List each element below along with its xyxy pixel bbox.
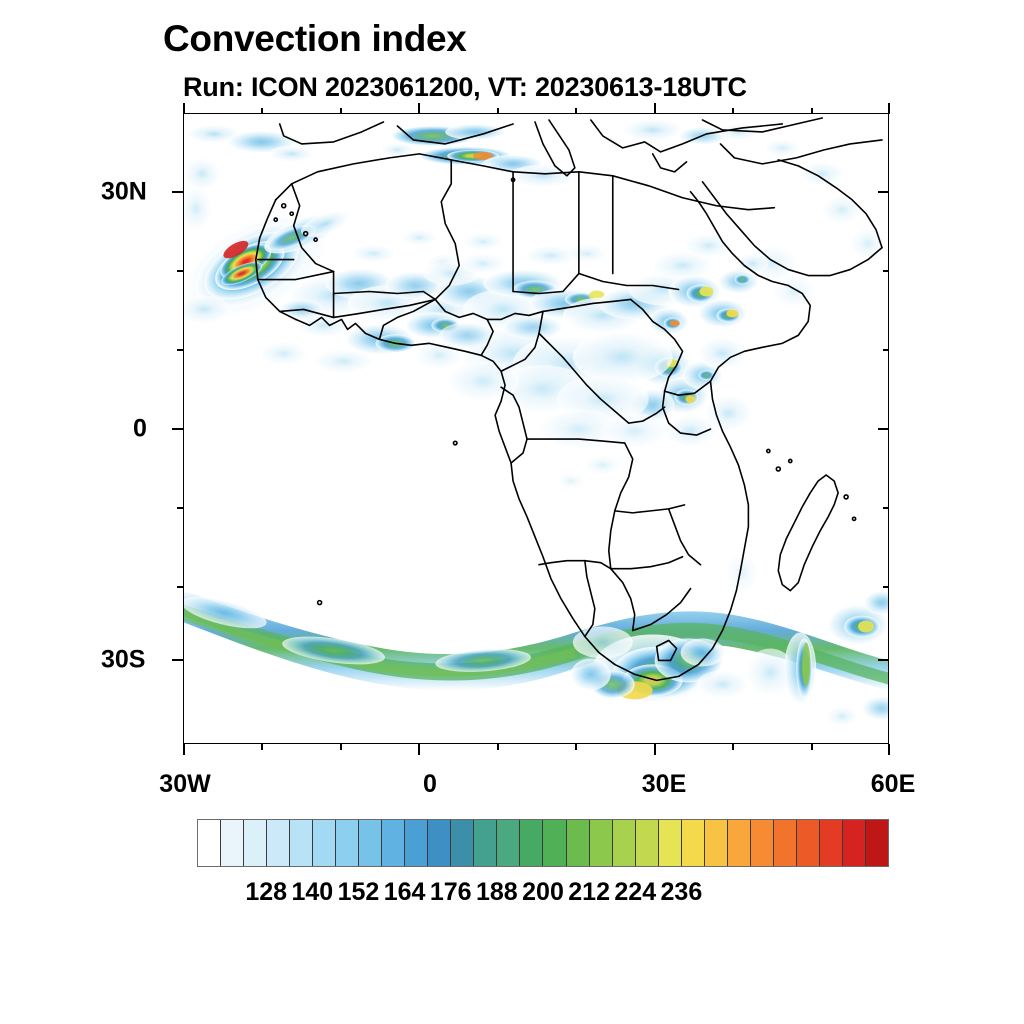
colorbar-tick-label-140: 140 bbox=[291, 878, 333, 907]
colorbar-band-7 bbox=[359, 820, 382, 866]
y-tick-right-30s bbox=[878, 659, 889, 661]
colorbar-tick-label-224: 224 bbox=[614, 878, 656, 907]
colorbar-band-9 bbox=[405, 820, 428, 866]
colorbar-band-26 bbox=[797, 820, 820, 866]
y-tick-10s bbox=[177, 507, 183, 509]
colorbar-band-25 bbox=[774, 820, 797, 866]
x-tick-0 bbox=[418, 744, 420, 755]
y-tick-right-10n bbox=[883, 349, 889, 351]
coastline-and-borders-overlay bbox=[184, 114, 888, 743]
colorbar-band-1 bbox=[221, 820, 244, 866]
colorbar-tick-label-176: 176 bbox=[430, 878, 472, 907]
page-title: Convection index bbox=[163, 18, 467, 60]
x-tick-20e bbox=[575, 744, 577, 750]
colorbar-tick-label-236: 236 bbox=[661, 878, 703, 907]
colorbar-tick-label-200: 200 bbox=[522, 878, 564, 907]
colorbar-band-0 bbox=[198, 820, 221, 866]
colorbar-band-28 bbox=[843, 820, 866, 866]
y-axis-label-30n: 30N bbox=[101, 178, 147, 207]
x-tick-30e bbox=[654, 744, 656, 755]
colorbar-band-10 bbox=[428, 820, 451, 866]
y-tick-right-0 bbox=[878, 428, 889, 430]
x-tick-60e bbox=[888, 744, 890, 755]
colorbar-band-18 bbox=[613, 820, 636, 866]
y-axis-label-30s: 30S bbox=[101, 646, 145, 675]
colorbar-band-11 bbox=[451, 820, 474, 866]
colorbar-tick-label-152: 152 bbox=[338, 878, 380, 907]
x-tick-top-20w bbox=[261, 108, 263, 114]
colorbar bbox=[197, 819, 889, 867]
y-tick-right-20s bbox=[883, 586, 889, 588]
colorbar-band-12 bbox=[474, 820, 497, 866]
colorbar-band-14 bbox=[520, 820, 543, 866]
y-tick-10n bbox=[177, 349, 183, 351]
y-tick-right-30n bbox=[878, 191, 889, 193]
colorbar-band-8 bbox=[382, 820, 405, 866]
y-tick-20n bbox=[177, 270, 183, 272]
colorbar-band-27 bbox=[820, 820, 843, 866]
run-valid-time-subtitle: Run: ICON 2023061200, VT: 20230613-18UTC bbox=[183, 72, 747, 103]
y-tick-0 bbox=[172, 428, 183, 430]
colorbar-band-5 bbox=[313, 820, 336, 866]
x-tick-10w bbox=[340, 744, 342, 750]
colorbar-band-20 bbox=[659, 820, 682, 866]
colorbar-band-19 bbox=[636, 820, 659, 866]
x-axis-label-0: 0 bbox=[423, 770, 437, 799]
colorbar-tick-label-212: 212 bbox=[568, 878, 610, 907]
colorbar-band-17 bbox=[590, 820, 613, 866]
y-tick-right-10s bbox=[883, 507, 889, 509]
x-axis-label-30w: 30W bbox=[159, 770, 210, 799]
colorbar-band-6 bbox=[336, 820, 359, 866]
colorbar-tick-label-164: 164 bbox=[384, 878, 426, 907]
y-tick-30n bbox=[172, 191, 183, 193]
x-tick-top-30w bbox=[183, 103, 185, 114]
x-tick-50e bbox=[811, 744, 813, 750]
colorbar-band-13 bbox=[497, 820, 520, 866]
y-tick-30s bbox=[172, 659, 183, 661]
colorbar-band-16 bbox=[567, 820, 590, 866]
x-tick-top-30e bbox=[654, 103, 656, 114]
x-tick-top-10w bbox=[340, 108, 342, 114]
y-tick-right-20n bbox=[883, 270, 889, 272]
colorbar-band-21 bbox=[682, 820, 705, 866]
colorbar-band-2 bbox=[244, 820, 267, 866]
x-tick-top-20e bbox=[575, 108, 577, 114]
colorbar-band-4 bbox=[290, 820, 313, 866]
map-plot-area bbox=[183, 113, 889, 744]
colorbar-band-22 bbox=[705, 820, 728, 866]
colorbar-band-24 bbox=[751, 820, 774, 866]
colorbar-band-15 bbox=[543, 820, 566, 866]
x-tick-top-10e bbox=[497, 108, 499, 114]
colorbar-band-23 bbox=[728, 820, 751, 866]
x-axis-label-60e: 60E bbox=[871, 770, 915, 799]
y-tick-20s bbox=[177, 586, 183, 588]
x-tick-40e bbox=[732, 744, 734, 750]
x-tick-top-50e bbox=[811, 108, 813, 114]
x-tick-top-0 bbox=[418, 103, 420, 114]
x-tick-10e bbox=[497, 744, 499, 750]
convection-field-layer bbox=[184, 114, 888, 743]
x-tick-30w bbox=[183, 744, 185, 755]
x-tick-20w bbox=[261, 744, 263, 750]
colorbar-band-29 bbox=[866, 820, 888, 866]
colorbar-tick-label-128: 128 bbox=[245, 878, 287, 907]
y-axis-label-0: 0 bbox=[133, 415, 147, 444]
convection-index-map-page: Convection index Run: ICON 2023061200, V… bbox=[0, 0, 1024, 1024]
colorbar-tick-label-188: 188 bbox=[476, 878, 518, 907]
x-tick-top-40e bbox=[732, 108, 734, 114]
x-tick-top-60e bbox=[888, 103, 890, 114]
colorbar-band-3 bbox=[267, 820, 290, 866]
x-axis-label-30e: 30E bbox=[642, 770, 686, 799]
